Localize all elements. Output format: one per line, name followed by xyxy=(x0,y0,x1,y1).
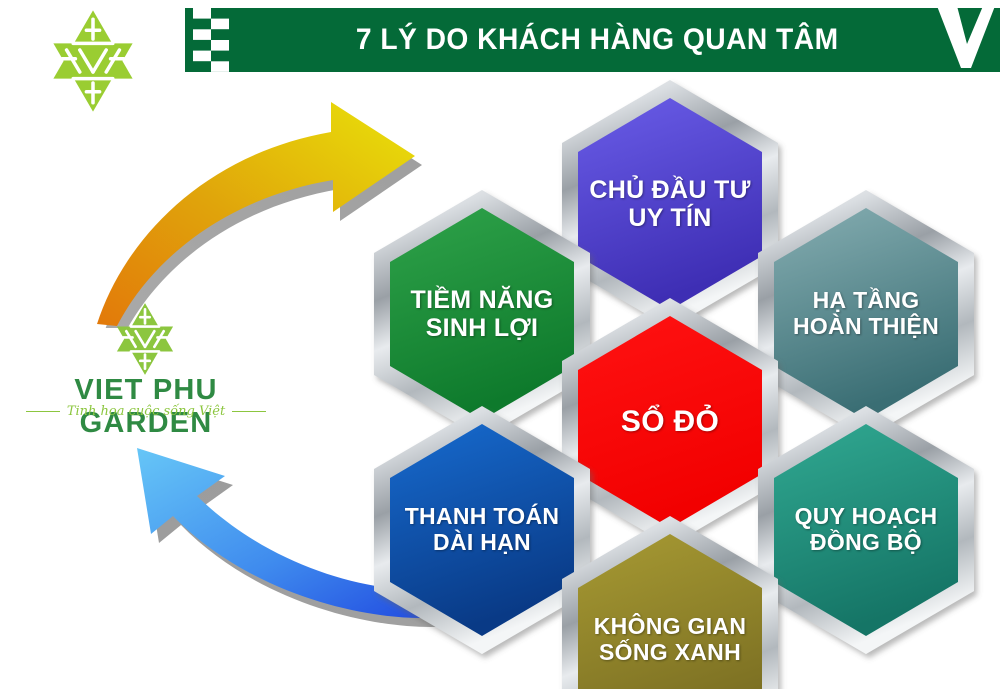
tagline-rule-right xyxy=(232,411,266,413)
brand-logo: VIET PHU GARDEN Tinh hoa cuộc sống Việt xyxy=(18,300,274,428)
tagline-rule-left xyxy=(26,411,60,413)
infographic-canvas: 7 LÝ DO KHÁCH HÀNG QUAN TÂM xyxy=(0,0,1000,689)
page-title: 7 LÝ DO KHÁCH HÀNG QUAN TÂM xyxy=(209,8,975,72)
hexagon-cluster: CHỦ ĐẦU TƯ UY TÍN TIỀM NĂNG SINH LỢI HẠ … xyxy=(358,78,998,678)
six-pointed-star-logo-icon xyxy=(106,300,184,378)
hex-quy-hoach-dong-bo[interactable]: QUY HOẠCH ĐỒNG BỘ xyxy=(754,404,978,656)
brand-tagline: Tinh hoa cuộc sống Việt xyxy=(67,404,225,419)
hex-khong-gian-song-xanh[interactable]: KHÔNG GIAN SỐNG XANH xyxy=(558,514,782,689)
hex-ha-tang-hoan-thien[interactable]: HẠ TẦNG HOÀN THIỆN xyxy=(754,188,978,440)
v-checkmark-icon xyxy=(935,8,995,68)
header-banner: 7 LÝ DO KHÁCH HÀNG QUAN TÂM xyxy=(185,8,1000,72)
brand-tagline-row: Tinh hoa cuộc sống Việt xyxy=(18,404,274,419)
